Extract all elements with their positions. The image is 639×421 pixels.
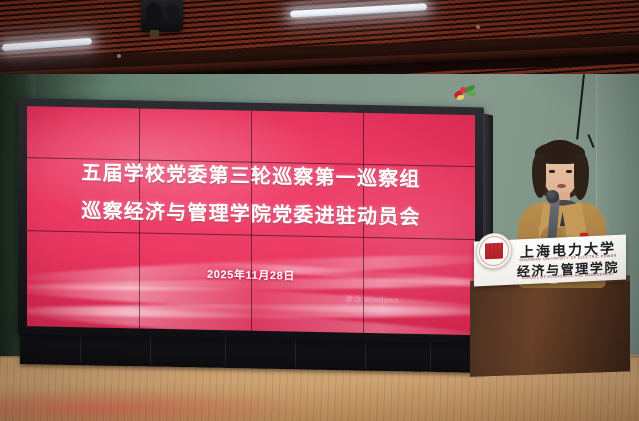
led-screen-surface: 五届学校党委第三轮巡察第一巡察组 巡察经济与管理学院党委进驻动员会 2025年1… [27, 106, 475, 335]
flower-leaf [466, 90, 476, 98]
base-panel-seam [80, 333, 81, 363]
projector-mount [150, 30, 159, 38]
hair-left-side [532, 154, 546, 198]
emblem-mark [485, 243, 503, 260]
slide-date: 2025年11月28日 [207, 266, 295, 284]
flower-decoration-icon [452, 84, 478, 104]
base-panel-seam [365, 339, 366, 369]
mouth [557, 184, 566, 188]
led-video-wall: 五届学校党委第三轮巡察第一巡察组 巡察经济与管理学院党委进驻动员会 2025年1… [18, 98, 484, 343]
eye-right [566, 170, 572, 173]
photo-scene: 五届学校党委第三轮巡察第一巡察组 巡察经济与管理学院党委进驻动员会 2025年1… [0, 0, 639, 421]
base-panel-seam [295, 337, 296, 367]
podium-front-face [470, 281, 630, 377]
eye-left [549, 170, 555, 173]
flower-center [457, 95, 465, 101]
base-panel-seam [225, 336, 226, 366]
projector-icon [141, 0, 183, 32]
slide-title-line-1: 五届学校党委第三轮巡察第一巡察组 [81, 156, 420, 192]
slide-title-line-2: 巡察经济与管理学院党委进驻动员会 [81, 194, 420, 230]
microphone-head [546, 190, 559, 203]
ceiling-speck [117, 54, 121, 58]
base-panel-seam [150, 334, 151, 364]
floor-red-reflection [0, 388, 320, 421]
ceiling-speck [476, 25, 480, 29]
hair-right-side [574, 154, 589, 200]
base-panel-seam [430, 340, 431, 370]
